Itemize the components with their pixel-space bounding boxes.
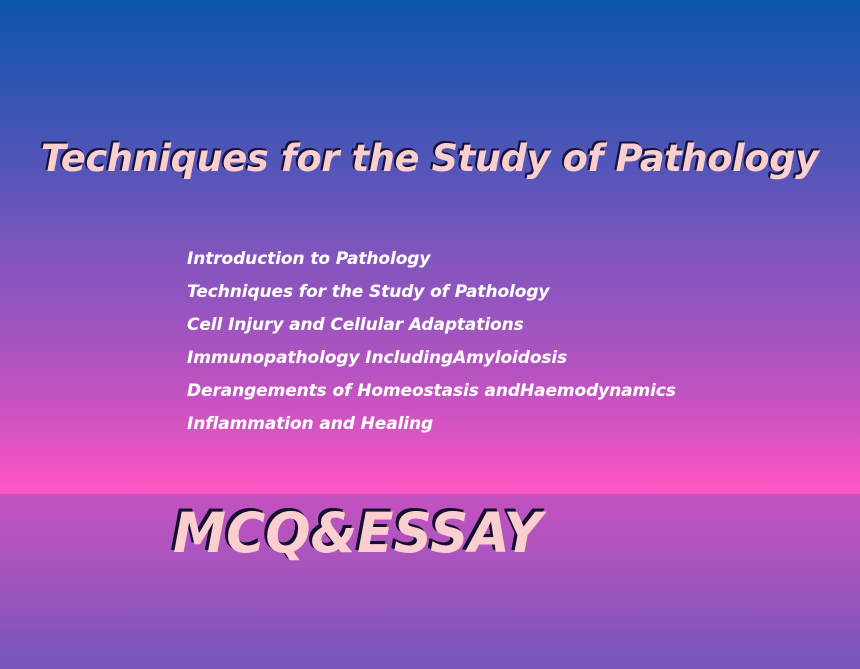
list-item: Cell Injury and Cellular Adaptations	[187, 309, 676, 342]
list-item: Techniques for the Study of Pathology	[187, 276, 676, 309]
slide-footer-text: MCQ&ESSAY	[173, 506, 542, 561]
list-item: Immunopathology IncludingAmyloidosis	[187, 342, 676, 375]
list-item: Derangements of Homeostasis andHaemodyna…	[187, 375, 676, 408]
slide-footer-block: MCQ&ESSAY	[173, 506, 554, 561]
topic-list: Introduction to Pathology Techniques for…	[187, 243, 676, 441]
presentation-slide: Techniques for the Study of Pathology In…	[0, 0, 860, 669]
list-item: Inflammation and Healing	[187, 408, 676, 441]
list-item: Introduction to Pathology	[187, 243, 676, 276]
